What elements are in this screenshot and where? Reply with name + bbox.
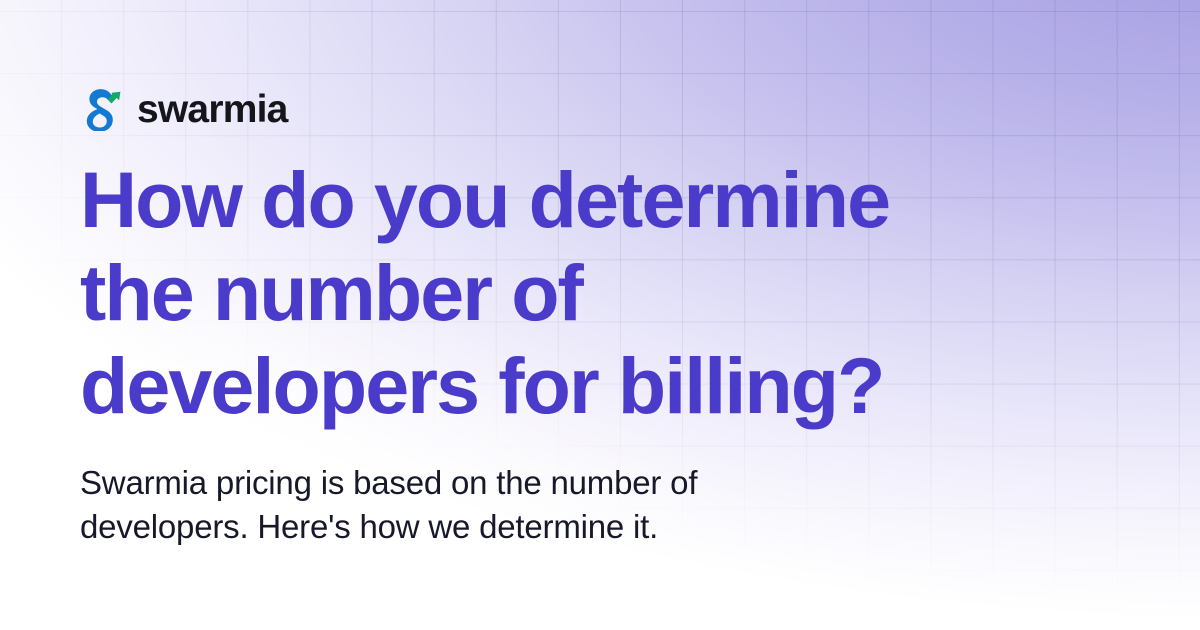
card-content: swarmia How do you determine the number …	[0, 0, 1200, 630]
page-title: How do you determine the number of devel…	[80, 153, 1140, 432]
swarmia-s-check-icon	[80, 85, 128, 131]
swarmia-logo[interactable]: swarmia	[80, 85, 1200, 131]
page-subtitle: Swarmia pricing is based on the number o…	[80, 461, 860, 549]
swarmia-wordmark: swarmia	[137, 90, 288, 129]
og-card: swarmia How do you determine the number …	[0, 0, 1200, 630]
